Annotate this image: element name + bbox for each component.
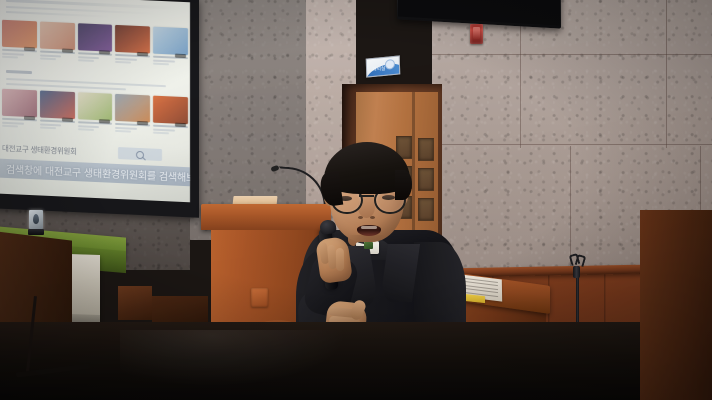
video-duration-badge [137, 120, 148, 124]
video-card[interactable] [2, 89, 37, 130]
video-duration-badge [99, 119, 110, 123]
foreground-right-column [640, 210, 712, 400]
projection-screen-frame: 대전교구 생태환경위원회 검색창에 대전교구 생태환경위원회를 검색해보 [0, 0, 199, 218]
video-thumbnail-image [2, 20, 37, 49]
video-duration-badge [62, 48, 73, 52]
photo-scene: 회의실 [0, 0, 712, 400]
video-thumbnail-image [2, 89, 37, 118]
video-card[interactable] [115, 94, 150, 135]
search-button[interactable] [118, 147, 162, 161]
video-duration-badge [175, 53, 186, 57]
room-name-sign: 회의실 [366, 55, 400, 77]
video-duration-badge [24, 46, 35, 50]
video-thumbnail-image [115, 94, 150, 123]
crystal-award [28, 210, 44, 236]
video-thumbnail-image [153, 96, 188, 125]
projection-screen: 대전교구 생태환경위원회 검색창에 대전교구 생태환경위원회를 검색해보 [0, 0, 190, 202]
search-query-text: 대전교구 생태환경위원회 [2, 143, 77, 157]
magnifier-icon [136, 150, 144, 158]
fire-alarm-strobe [470, 24, 483, 44]
video-duration-badge [175, 122, 186, 126]
video-duration-badge [24, 115, 35, 119]
video-thumbnail-image [40, 21, 75, 50]
video-card[interactable] [153, 96, 188, 137]
video-thumbnail-image [78, 23, 113, 52]
video-thumbnail-image [115, 25, 150, 54]
video-card[interactable] [2, 20, 37, 61]
hair [324, 142, 410, 194]
video-duration-badge [99, 50, 110, 54]
floor-reflection [120, 330, 350, 388]
finger [336, 248, 344, 271]
wall-grout-line [432, 144, 712, 145]
glasses-bridge [359, 195, 374, 197]
video-thumbnail-row [0, 20, 190, 68]
video-card[interactable] [78, 92, 113, 133]
video-thumbnail-image [153, 27, 188, 56]
wall-grout-line [432, 54, 712, 55]
video-card[interactable] [40, 21, 75, 62]
display-bezel [398, 0, 560, 26]
floor [0, 322, 712, 400]
wall-grout-line [666, 0, 667, 148]
video-duration-badge [62, 117, 73, 121]
video-card[interactable] [40, 90, 75, 131]
chin-shadow [348, 235, 386, 245]
microphone-head [319, 219, 337, 235]
video-card[interactable] [78, 23, 113, 64]
slide-section-heading [6, 70, 32, 74]
video-card[interactable] [153, 27, 188, 68]
sign-caption: 회의실 [372, 64, 385, 72]
video-thumbnail-image [78, 92, 113, 121]
nostril-left [358, 216, 363, 219]
video-card[interactable] [115, 25, 150, 66]
video-thumbnail-image [40, 90, 75, 119]
foreground-furniture [118, 286, 152, 320]
award-base [28, 229, 44, 235]
nostril-right [370, 216, 375, 219]
award-glass [29, 210, 43, 229]
video-thumbnail-row [0, 89, 190, 137]
podium-emblem [251, 288, 268, 307]
mic-stand-clip [570, 254, 584, 270]
video-duration-badge [137, 51, 148, 55]
